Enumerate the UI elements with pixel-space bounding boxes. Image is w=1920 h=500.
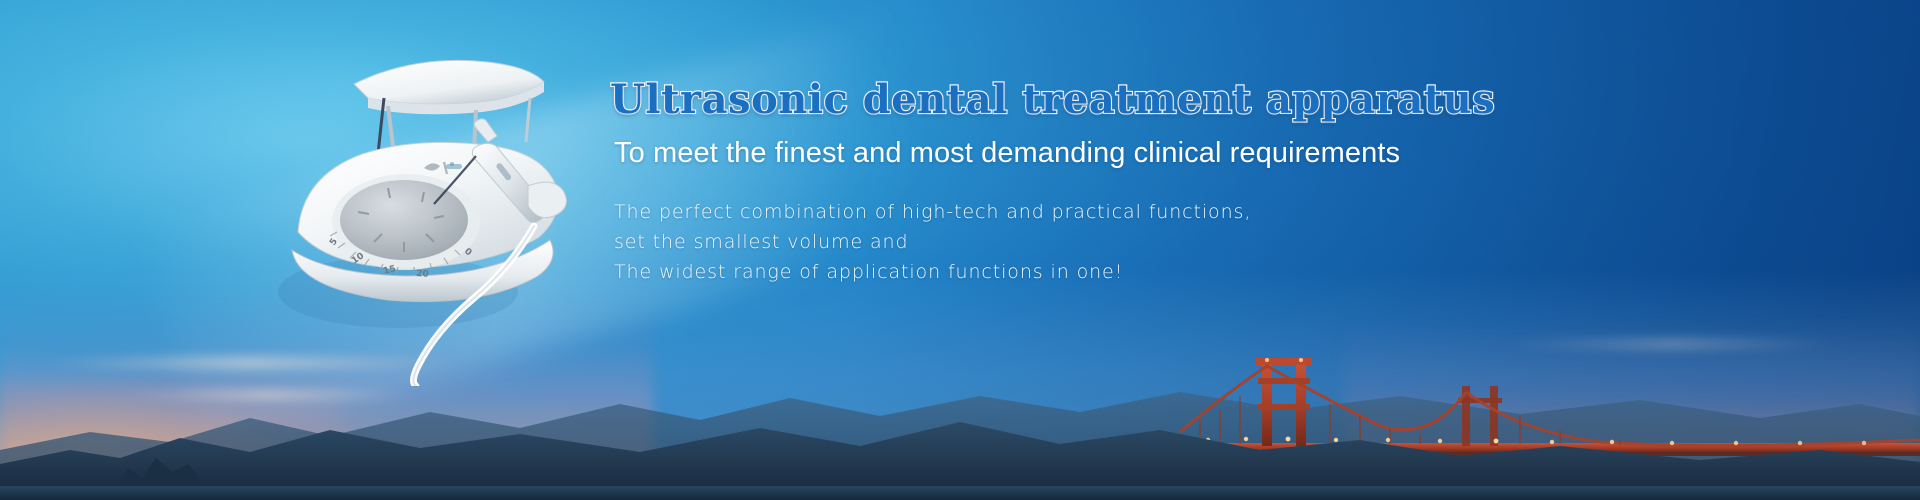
banner-copy: Ultrasonic dental treatment apparatus To…	[610, 78, 1410, 287]
banner-body-copy: The perfect combination of high-tech and…	[614, 197, 1410, 287]
svg-text:20: 20	[416, 269, 429, 280]
device-canopy	[354, 60, 544, 154]
product-image-ultrasonic-scaler: 5 10 15 20 0	[238, 36, 598, 386]
banner-headline: Ultrasonic dental treatment apparatus	[610, 78, 1410, 121]
body-line: The perfect combination of high-tech and…	[614, 197, 1410, 227]
body-line: set the smallest volume and	[614, 227, 1410, 257]
promo-banner: 5 10 15 20 0	[0, 0, 1920, 500]
banner-subheadline: To meet the finest and most demanding cl…	[614, 137, 1410, 170]
device-body: 5 10 15 20 0	[292, 142, 558, 301]
body-line: The widest range of application function…	[614, 257, 1410, 287]
